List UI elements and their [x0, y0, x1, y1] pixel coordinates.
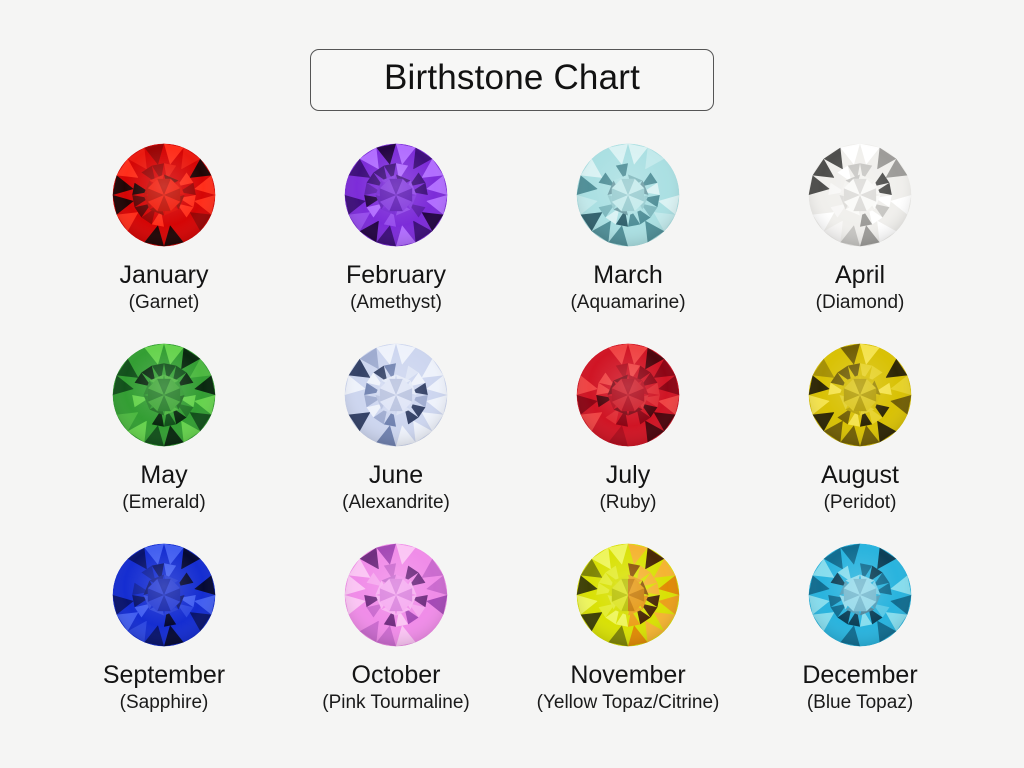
- month-label: August: [821, 462, 899, 488]
- stone-label: (Blue Topaz): [807, 693, 913, 713]
- round-brilliant-gem-icon: [109, 140, 219, 250]
- round-brilliant-gem-icon: [341, 140, 451, 250]
- birthstone-cell-february[interactable]: February(Amethyst): [280, 140, 512, 340]
- stone-label: (Sapphire): [120, 693, 209, 713]
- stone-label: (Pink Tourmaline): [322, 693, 469, 713]
- month-label: December: [802, 662, 917, 688]
- round-brilliant-gem-icon: [109, 340, 219, 450]
- stone-label: (Peridot): [824, 493, 897, 513]
- birthstone-cell-january[interactable]: January(Garnet): [48, 140, 280, 340]
- stone-label: (Ruby): [599, 493, 656, 513]
- page-title: Birthstone Chart: [357, 60, 667, 97]
- round-brilliant-gem-icon: [341, 340, 451, 450]
- birthstone-cell-july[interactable]: July(Ruby): [512, 340, 744, 540]
- month-label: March: [593, 262, 662, 288]
- stone-label: (Alexandrite): [342, 493, 450, 513]
- title-container: Birthstone Chart: [0, 49, 1024, 111]
- month-label: April: [835, 262, 885, 288]
- month-label: June: [369, 462, 423, 488]
- month-label: July: [606, 462, 650, 488]
- stone-label: (Emerald): [122, 493, 205, 513]
- birthstone-cell-april[interactable]: April(Diamond): [744, 140, 976, 340]
- month-label: February: [346, 262, 446, 288]
- month-label: November: [570, 662, 685, 688]
- stone-label: (Diamond): [816, 293, 905, 313]
- stone-label: (Yellow Topaz/Citrine): [537, 693, 720, 713]
- birthstone-cell-october[interactable]: October(Pink Tourmaline): [280, 540, 512, 740]
- round-brilliant-gem-icon: [341, 540, 451, 650]
- round-brilliant-gem-icon: [109, 540, 219, 650]
- round-brilliant-gem-icon: [805, 540, 915, 650]
- birthstone-grid: January(Garnet) February(Amethyst): [48, 140, 976, 740]
- stone-label: (Aquamarine): [570, 293, 685, 313]
- birthstone-cell-june[interactable]: June(Alexandrite): [280, 340, 512, 540]
- birthstone-cell-march[interactable]: March(Aquamarine): [512, 140, 744, 340]
- month-label: September: [103, 662, 225, 688]
- round-brilliant-gem-icon: [573, 340, 683, 450]
- birthstone-cell-august[interactable]: August(Peridot): [744, 340, 976, 540]
- month-label: May: [140, 462, 187, 488]
- stone-label: (Garnet): [129, 293, 200, 313]
- birthstone-cell-may[interactable]: May(Emerald): [48, 340, 280, 540]
- birthstone-cell-december[interactable]: December(Blue Topaz): [744, 540, 976, 740]
- round-brilliant-gem-icon: [805, 340, 915, 450]
- round-brilliant-gem-icon: [805, 140, 915, 250]
- birthstone-cell-november[interactable]: November(Yellow Topaz/Citrine): [512, 540, 744, 740]
- round-brilliant-gem-icon: [573, 140, 683, 250]
- month-label: October: [352, 662, 441, 688]
- birthstone-chart-page: Birthstone Chart January(Garnet): [0, 0, 1024, 768]
- stone-label: (Amethyst): [350, 293, 442, 313]
- round-brilliant-gem-icon: [573, 540, 683, 650]
- title-box: Birthstone Chart: [310, 49, 714, 111]
- month-label: January: [120, 262, 209, 288]
- birthstone-cell-september[interactable]: September(Sapphire): [48, 540, 280, 740]
